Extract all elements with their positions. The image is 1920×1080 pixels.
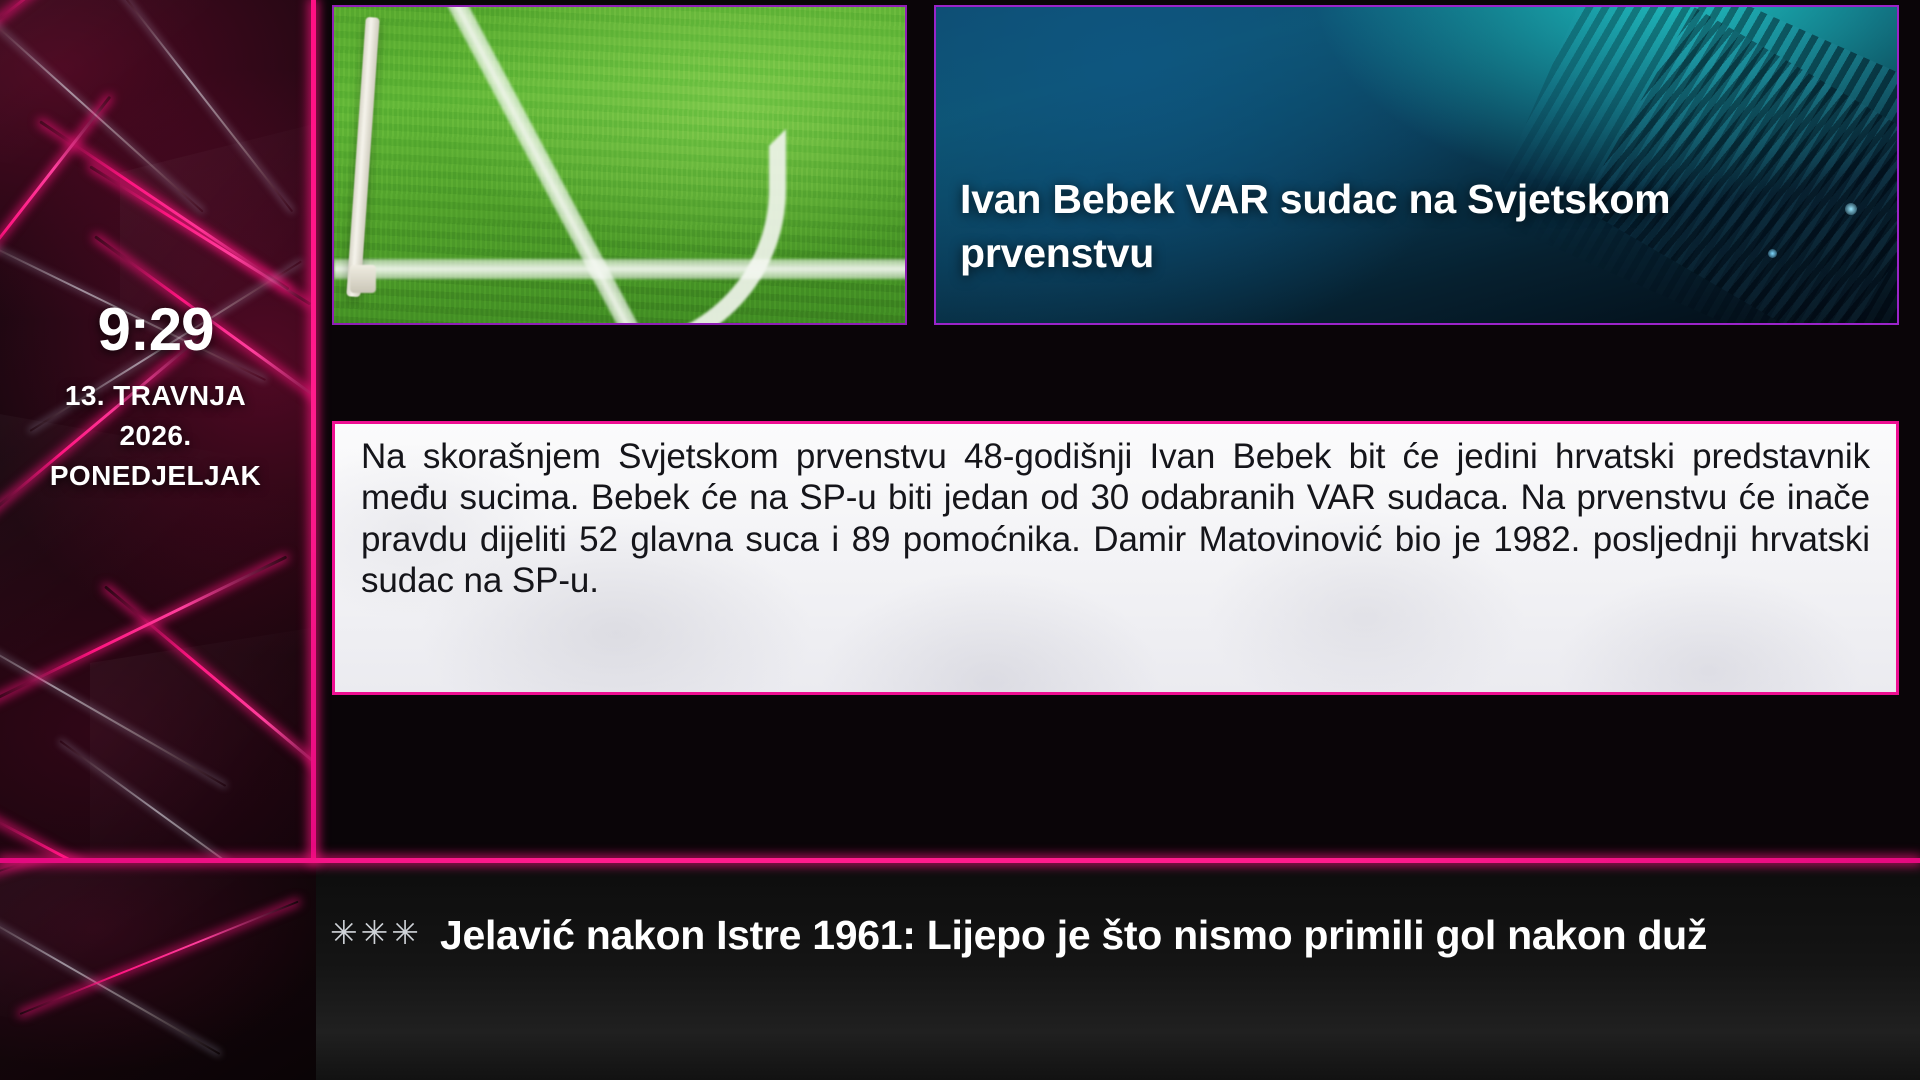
article-body-panel: Na skorašnjem Svjetskom prvenstvu 48-god…: [332, 421, 1899, 695]
clock-block: 9:29 13. TRAVNJA 2026. PONEDJELJAK: [0, 300, 311, 495]
pitch-corner-arc: [456, 129, 786, 325]
clock-time: 9:29: [0, 300, 311, 360]
article-body-text: Na skorašnjem Svjetskom prvenstvu 48-god…: [361, 436, 1870, 602]
clock-date-year: 2026.: [0, 416, 311, 456]
news-ticker-bar: ✳✳✳ Jelavić nakon Istre 1961: Lijepo je …: [316, 863, 1920, 1080]
headline-title: Ivan Bebek VAR sudac na Svjetskom prvens…: [960, 173, 1875, 280]
horizontal-divider: [0, 858, 1920, 863]
article-photo: [332, 5, 907, 325]
sidebar-panel: 9:29 13. TRAVNJA 2026. PONEDJELJAK: [0, 0, 311, 862]
ticker-row: ✳✳✳ Jelavić nakon Istre 1961: Lijepo je …: [330, 915, 1707, 956]
clock-date-day: 13. TRAVNJA: [0, 376, 311, 416]
pitch-goal-line: [334, 259, 907, 279]
clock-weekday: PONEDJELJAK: [0, 456, 311, 496]
ticker-headline-text: Jelavić nakon Istre 1961: Lijepo je što …: [440, 915, 1707, 956]
corner-flag-base: [350, 265, 376, 293]
sidebar-footer-panel: [0, 863, 316, 1080]
tv-broadcast-screen: 9:29 13. TRAVNJA 2026. PONEDJELJAK MAXSP…: [0, 0, 1920, 1080]
vertical-divider: [311, 0, 316, 862]
ticker-separator-stars-icon: ✳✳✳: [330, 916, 422, 949]
headline-panel: Ivan Bebek VAR sudac na Svjetskom prvens…: [934, 5, 1899, 325]
